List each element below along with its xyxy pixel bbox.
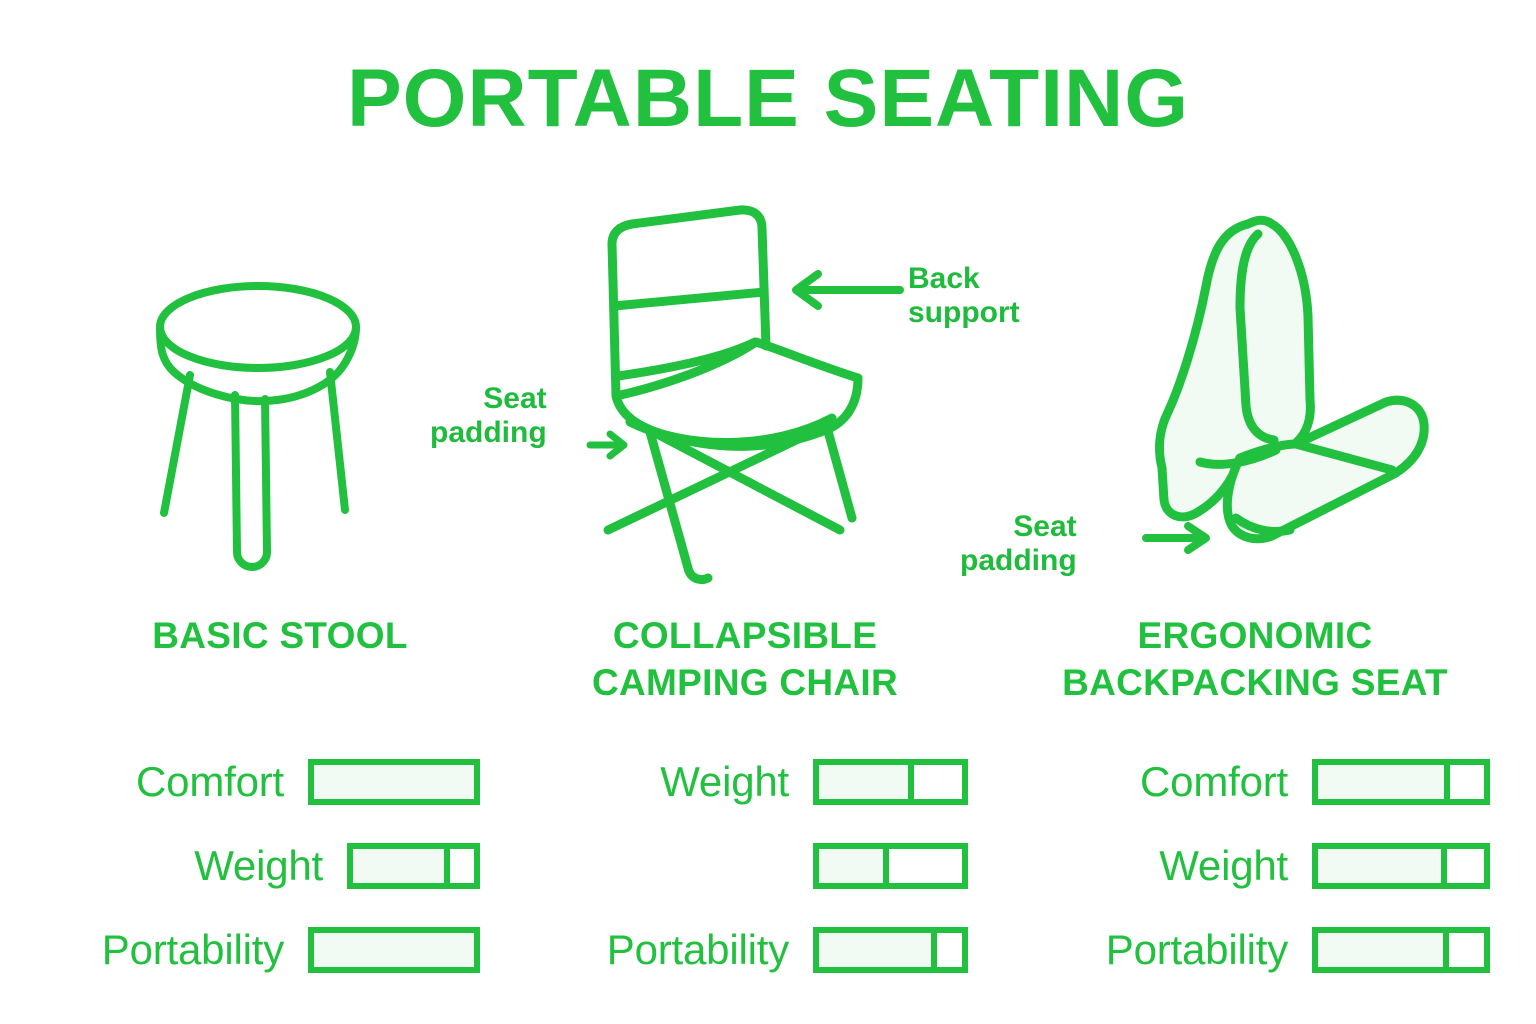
callout-seat-padding-chair-line1: Seat xyxy=(430,382,547,416)
rating-meter xyxy=(813,759,968,805)
rating-meter-fill xyxy=(819,765,914,799)
product-name-line2: CAMPING CHAIR xyxy=(515,659,975,706)
rating-meter-fill xyxy=(353,849,450,883)
stool-illustration xyxy=(140,275,400,585)
stool-leg-front-icon xyxy=(235,395,267,567)
arrow-right-icon xyxy=(1142,520,1212,556)
rating-row: Comfort xyxy=(20,740,480,824)
rating-meter-fill xyxy=(819,933,937,967)
page-title: PORTABLE SEATING xyxy=(0,58,1536,140)
callout-seat-padding-seat: Seat padding xyxy=(960,510,1077,577)
callout-seat-padding-chair-line2: padding xyxy=(430,416,547,450)
ratings-column-ergonomic-backpacking-seat: ComfortWeightPortability xyxy=(1000,740,1490,992)
product-name-line1: ERGONOMIC xyxy=(1005,612,1505,659)
callout-seat-padding-chair: Seat padding xyxy=(430,382,547,449)
rating-meter-fill xyxy=(1318,933,1449,967)
rating-row: Comfort xyxy=(1000,740,1490,824)
rating-label: Weight xyxy=(660,761,813,803)
rating-meter xyxy=(308,927,480,973)
stool-leg-right-icon xyxy=(330,372,345,510)
rating-meter-fill xyxy=(1318,849,1447,883)
backpacking-seat-illustration xyxy=(1140,200,1440,570)
callout-seat-padding-seat-line2: padding xyxy=(960,544,1077,578)
chair-back-frame-icon xyxy=(612,210,766,346)
product-name-collapsible-camping-chair: COLLAPSIBLE CAMPING CHAIR xyxy=(515,612,975,707)
rating-label: Portability xyxy=(607,929,813,971)
rating-label: Comfort xyxy=(1140,761,1312,803)
stool-leg-left-icon xyxy=(164,375,190,513)
chair-leg-rear-right-icon xyxy=(826,424,852,518)
arrow-left-icon xyxy=(788,268,906,312)
rating-label: Comfort xyxy=(136,761,308,803)
rating-meter xyxy=(1312,759,1490,805)
callout-seat-padding-seat-line1: Seat xyxy=(960,510,1077,544)
rating-meter xyxy=(347,843,480,889)
ratings-column-basic-stool: ComfortWeightPortability xyxy=(20,740,480,992)
product-name-line1: COLLAPSIBLE xyxy=(515,612,975,659)
rating-meter xyxy=(813,927,968,973)
product-name-line2: BACKPACKING SEAT xyxy=(1005,659,1505,706)
callout-back-support-line2: support xyxy=(908,296,1020,330)
rating-label: Weight xyxy=(1159,845,1312,887)
rating-meter xyxy=(1312,927,1490,973)
chair-back-crossbar-icon xyxy=(614,292,764,306)
rating-meter xyxy=(813,843,968,889)
callout-back-support-line1: Back xyxy=(908,262,1020,296)
stool-top-icon xyxy=(160,286,356,368)
rating-row: Weight xyxy=(20,824,480,908)
callout-back-support: Back support xyxy=(908,262,1020,329)
arrow-right-small-icon xyxy=(586,428,630,462)
rating-row: Weight xyxy=(508,740,968,824)
infographic-canvas: PORTABLE SEATING xyxy=(0,0,1536,1024)
rating-row: Portability xyxy=(1000,908,1490,992)
rating-label: Portability xyxy=(1106,929,1312,971)
rating-meter-fill xyxy=(1318,765,1450,799)
rating-row: Portability xyxy=(20,908,480,992)
rating-label: Weight xyxy=(194,845,347,887)
rating-meter-fill xyxy=(314,933,474,967)
rating-meter xyxy=(1312,843,1490,889)
camping-chair-illustration xyxy=(590,200,890,590)
product-name-ergonomic-backpacking-seat: ERGONOMIC BACKPACKING SEAT xyxy=(1005,612,1505,707)
rating-row: Weight xyxy=(1000,824,1490,908)
rating-meter xyxy=(308,759,480,805)
ratings-column-collapsible-camping-chair: WeightPortability xyxy=(508,740,968,992)
product-name-line1: BASIC STOOL xyxy=(60,612,500,659)
rating-row: Portability xyxy=(508,908,968,992)
product-name-basic-stool: BASIC STOOL xyxy=(60,612,500,659)
rating-meter-fill xyxy=(819,849,889,883)
rating-meter-fill xyxy=(314,765,474,799)
rating-label: Portability xyxy=(102,929,308,971)
rating-row xyxy=(508,824,968,908)
